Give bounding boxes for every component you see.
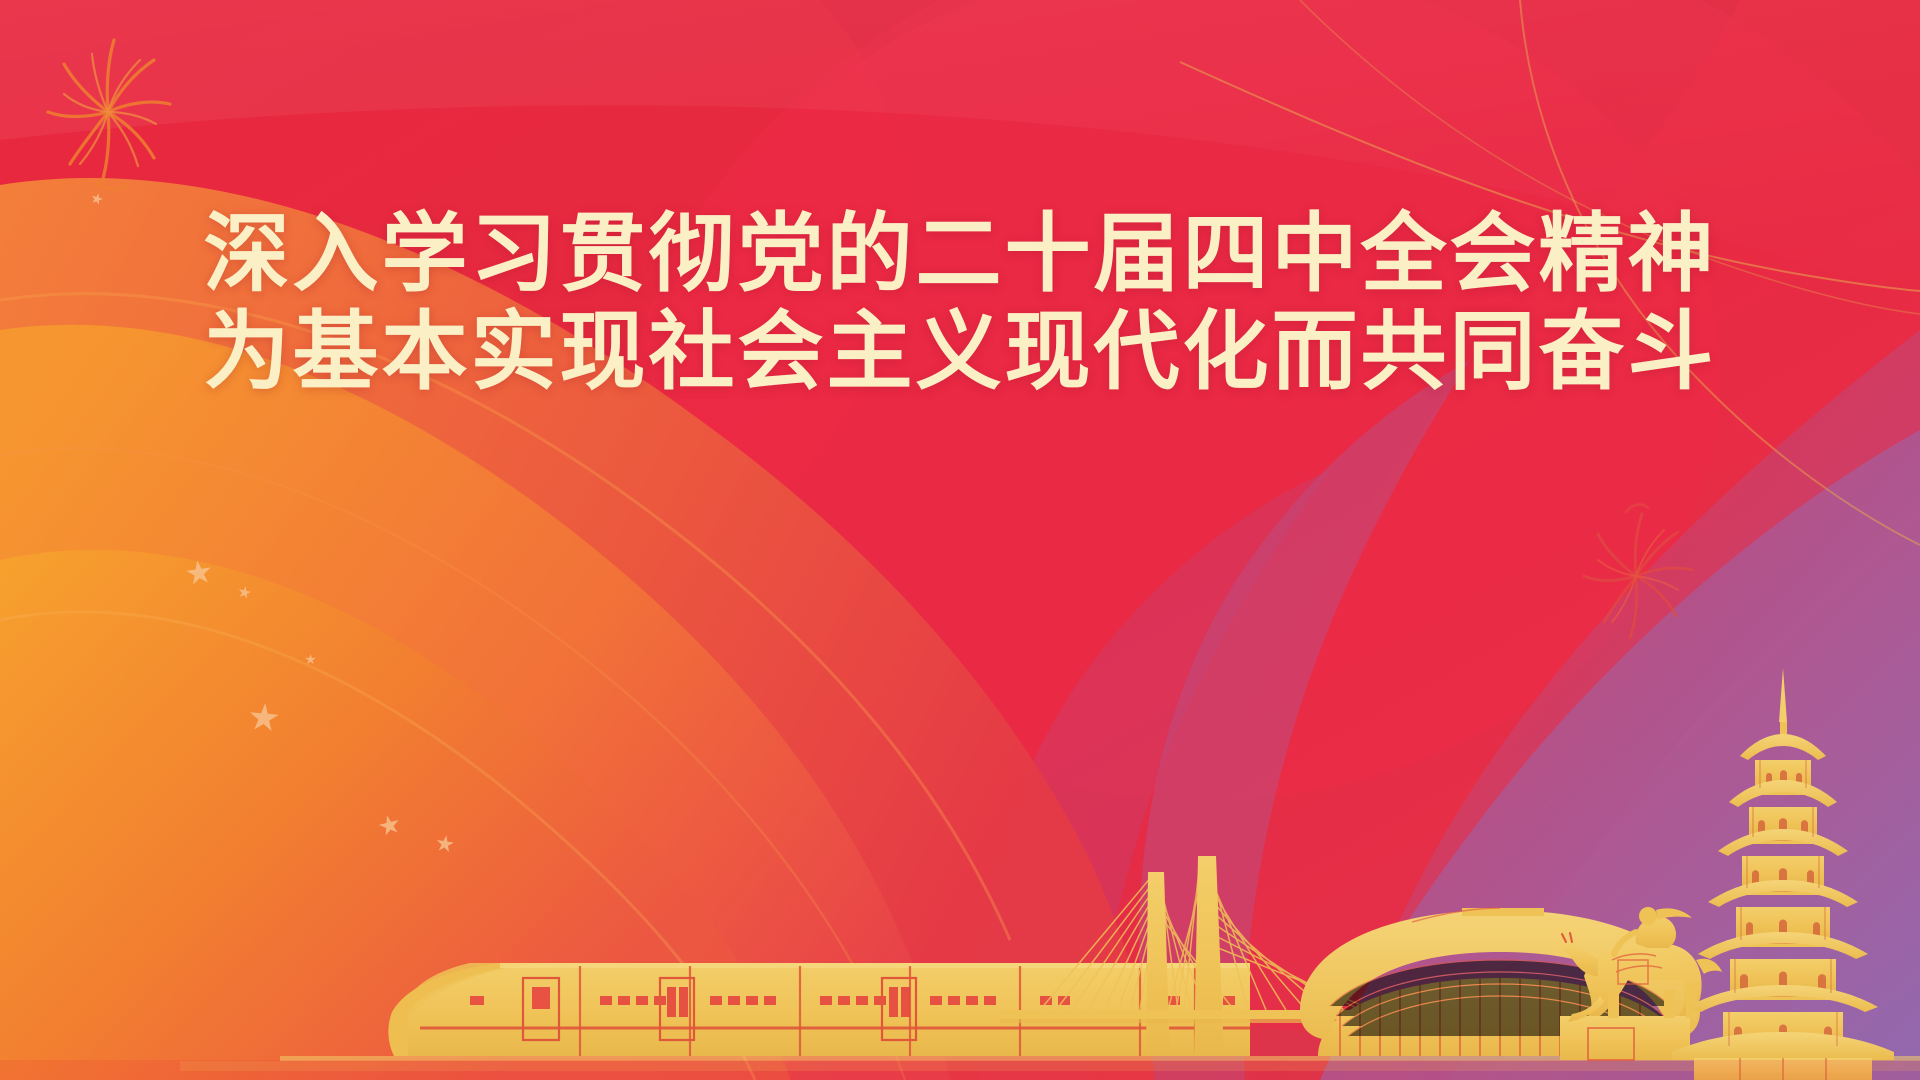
title-line-1: 深入学习贯彻党的二十届四中全会精神 — [0, 205, 1920, 303]
poster-title: 深入学习贯彻党的二十届四中全会精神 为基本实现社会主义现代化而共同奋斗 — [0, 205, 1920, 401]
pagoda-tower-icon — [1672, 668, 1894, 1080]
firework-burst-icon-right — [1578, 500, 1708, 655]
city-skyline-illustration — [0, 660, 1920, 1080]
poster-canvas: 深入学习贯彻党的二十届四中全会精神 为基本实现社会主义现代化而共同奋斗 — [0, 0, 1920, 1080]
title-line-2: 为基本实现社会主义现代化而共同奋斗 — [0, 303, 1920, 401]
high-speed-train-icon — [388, 963, 1250, 1056]
firework-burst-icon-left — [36, 24, 186, 199]
